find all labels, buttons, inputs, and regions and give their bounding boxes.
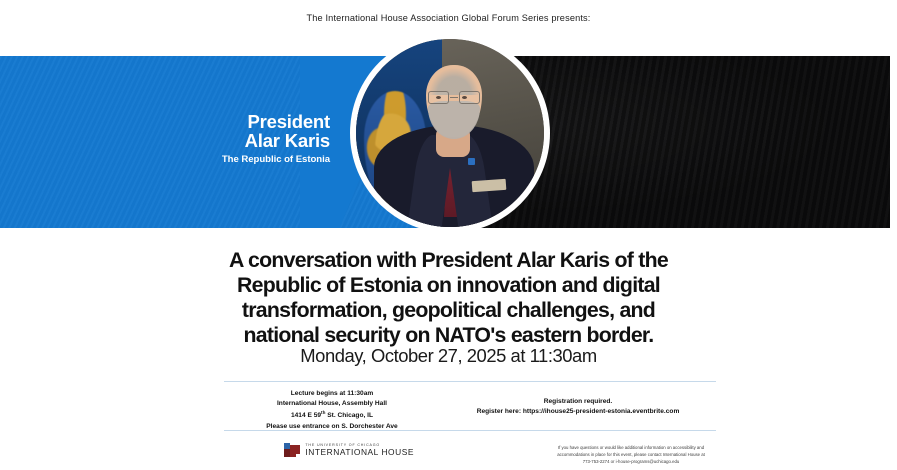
venue-entrance-note: Please use entrance on S. Dorchester Ave bbox=[224, 422, 440, 432]
portrait-lapel-pin bbox=[468, 158, 475, 165]
accessibility-notice: If you have questions or would like addi… bbox=[420, 443, 897, 465]
divider-top bbox=[224, 381, 716, 382]
accessibility-contact: 773-753-2274 or i-house-programs@uchicag… bbox=[420, 458, 842, 465]
venue-address: 1414 E 59th St. Chicago, IL bbox=[224, 409, 440, 421]
poster-footer: THE UNIVERSITY OF CHICAGO INTERNATIONAL … bbox=[0, 443, 897, 465]
speaker-portrait-frame bbox=[350, 33, 550, 233]
lecture-start-time: Lecture begins at 11:30am bbox=[224, 389, 440, 399]
event-date-time: Monday, October 27, 2025 at 11:30am bbox=[0, 345, 897, 367]
logo-wordmark: THE UNIVERSITY OF CHICAGO INTERNATIONAL … bbox=[305, 444, 414, 458]
registration-required-note: Registration required. bbox=[440, 397, 716, 407]
logo-house-name: INTERNATIONAL HOUSE bbox=[305, 448, 414, 457]
speaker-affiliation: The Republic of Estonia bbox=[0, 154, 330, 165]
event-poster: The International House Association Glob… bbox=[0, 0, 897, 470]
event-details: Lecture begins at 11:30am International … bbox=[224, 389, 716, 432]
international-house-logo: THE UNIVERSITY OF CHICAGO INTERNATIONAL … bbox=[0, 443, 420, 458]
speaker-name: Alar Karis bbox=[0, 131, 330, 150]
venue-details-column: Lecture begins at 11:30am International … bbox=[224, 389, 440, 432]
glasses-icon bbox=[427, 91, 481, 104]
accessibility-line-1: If you have questions or would like addi… bbox=[420, 444, 842, 451]
accessibility-line-2: accommodations in place for this event, … bbox=[420, 451, 842, 458]
venue-address-city: St. Chicago, IL bbox=[325, 413, 373, 420]
venue-name: International House, Assembly Hall bbox=[224, 399, 440, 409]
speaker-identity-block: President Alar Karis The Republic of Est… bbox=[0, 112, 340, 165]
uchicago-shield-icon bbox=[284, 443, 301, 458]
event-headline: A conversation with President Alar Karis… bbox=[0, 248, 897, 348]
portrait-name-badge bbox=[472, 179, 507, 192]
registration-column: Registration required. Register here: ht… bbox=[440, 389, 716, 417]
speaker-portrait-image bbox=[356, 39, 544, 227]
registration-link[interactable]: Register here: https://ihouse25-presiden… bbox=[440, 407, 716, 417]
venue-address-number: 1414 E 59 bbox=[291, 413, 321, 420]
presents-line: The International House Association Glob… bbox=[0, 13, 897, 23]
speaker-title: President bbox=[0, 112, 330, 131]
